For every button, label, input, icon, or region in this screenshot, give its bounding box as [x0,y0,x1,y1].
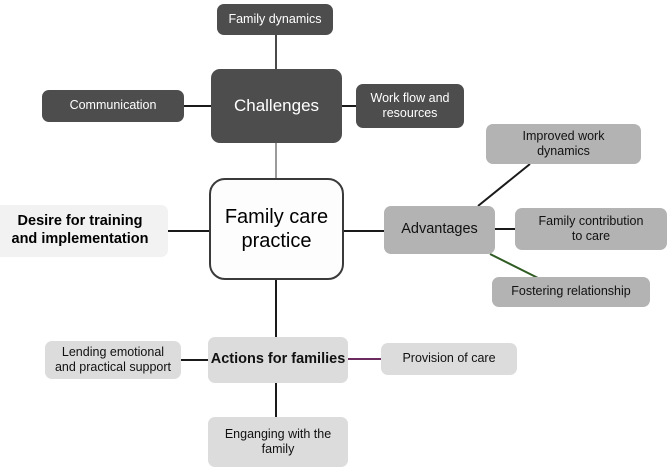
node-family-contribution-to-care[interactable]: Family contribution to care [515,208,667,250]
node-work-flow-and-resources[interactable]: Work flow and resources [356,84,464,128]
node-desire-for-training-label: Desire for training and implementation [12,213,149,248]
node-family-care-practice[interactable]: Family care practice [209,178,344,280]
node-advantages[interactable]: Advantages [384,206,495,254]
node-communication-label: Communication [70,98,157,113]
node-lending-emotional-support-label: Lending emotional and practical support [55,345,171,376]
node-actions-for-families[interactable]: Actions for families [208,337,348,383]
node-family-dynamics[interactable]: Family dynamics [217,4,333,35]
node-advantages-label: Advantages [401,221,478,239]
node-improved-work-dynamics[interactable]: Improved work dynamics [486,124,641,164]
node-fostering-relationship[interactable]: Fostering relationship [492,277,650,307]
node-challenges[interactable]: Challenges [211,69,342,143]
node-desire-for-training[interactable]: Desire for training and implementation [0,205,168,257]
edge-advantages-fostering-relationship [490,254,538,278]
node-lending-emotional-support[interactable]: Lending emotional and practical support [45,341,181,379]
node-family-care-practice-label: Family care practice [225,205,328,254]
node-challenges-label: Challenges [234,96,319,117]
node-fostering-relationship-label: Fostering relationship [511,284,631,299]
node-provision-of-care-label: Provision of care [402,351,495,366]
node-improved-work-dynamics-label: Improved work dynamics [523,129,605,160]
node-communication[interactable]: Communication [42,90,184,122]
edge-advantages-improved-work-dynamics [478,164,530,206]
node-family-contribution-to-care-label: Family contribution to care [539,214,644,245]
node-engaging-with-the-family[interactable]: Enganging with the family [208,417,348,467]
node-provision-of-care[interactable]: Provision of care [381,343,517,375]
node-work-flow-and-resources-label: Work flow and resources [371,91,450,122]
concept-map-canvas: Family dynamics Communication Challenges… [0,0,669,471]
node-actions-for-families-label: Actions for families [211,351,346,369]
node-family-dynamics-label: Family dynamics [228,12,321,27]
node-engaging-with-the-family-label: Enganging with the family [225,427,331,458]
